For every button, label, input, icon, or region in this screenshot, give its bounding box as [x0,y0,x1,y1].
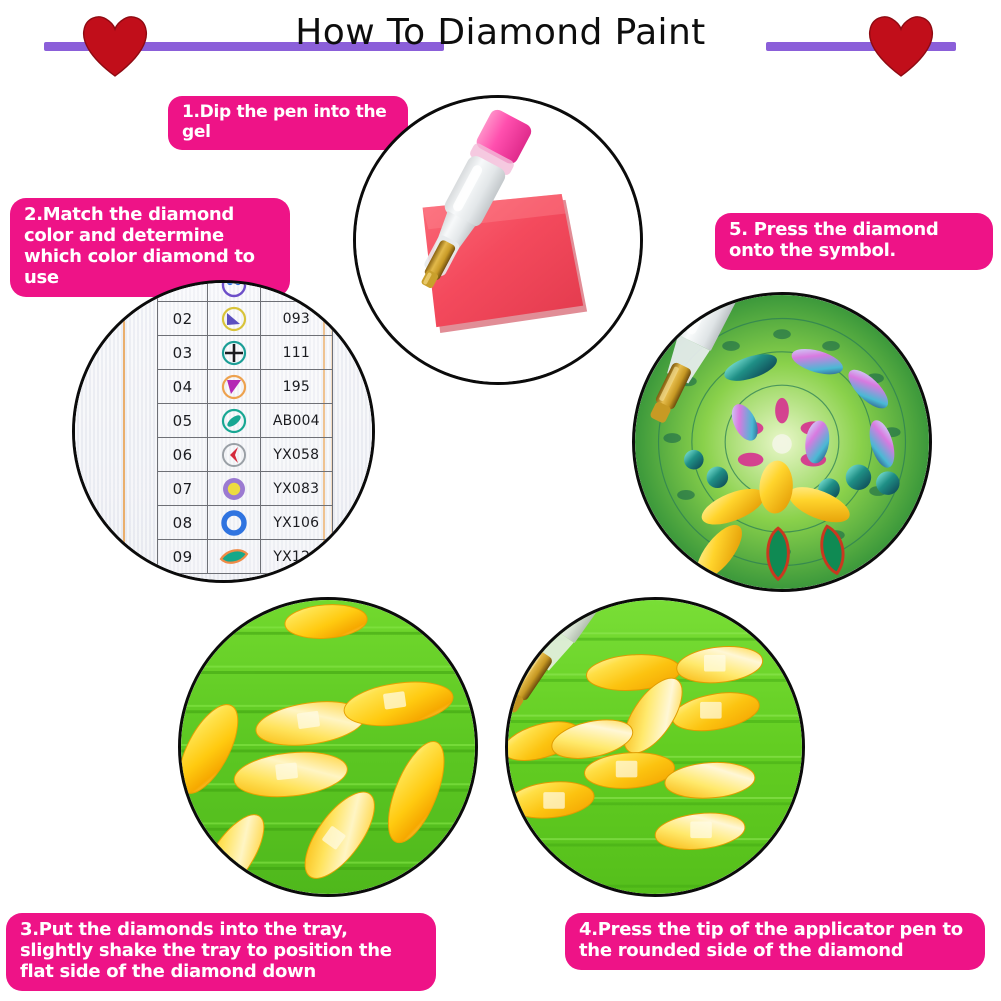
table-row: 05 AB004 [158,404,333,438]
double-dot-circle-icon [208,283,260,302]
legend-number: 04 [158,370,208,404]
legend-number: 05 [158,404,208,438]
table-row: 028 [158,283,333,302]
legend-code: AB004 [260,404,332,438]
legend-number: 02 [158,302,208,336]
photo-placing-diamond [632,292,932,592]
photo-color-chart: 028 02 093 03 [72,280,375,583]
blue-ring-circle-icon [208,506,260,540]
step-1-label: 1.Dip the pen into the gel [168,96,408,150]
legend-code: 028 [260,283,332,302]
photo-pen-picking-diamond [505,597,805,897]
legend-number: 08 [158,506,208,540]
photo-diamonds-in-tray [178,597,478,897]
legend-code: YX083 [260,472,332,506]
infographic-canvas: How To Diamond Paint 1.Dip the pen into … [0,0,1001,1001]
magenta-triangle-circle-icon [208,370,260,404]
legend-code: 093 [260,302,332,336]
chart-margin-rule [123,283,125,580]
legend-code: 195 [260,370,332,404]
chart-background: 028 02 093 03 [75,283,372,580]
step-3-label: 3.Put the diamonds into the tray, slight… [6,913,436,991]
left-arrow-circle-icon [208,438,260,472]
plus-circle-icon [208,336,260,370]
step-4-label: 4.Press the tip of the applicator pen to… [565,913,985,970]
legend-number: 09 [158,540,208,574]
table-row: 08 YX106 [158,506,333,540]
color-legend-table: 028 02 093 03 [157,283,333,574]
yellow-dot-circle-icon [208,472,260,506]
legend-number [158,283,208,302]
legend-number: 06 [158,438,208,472]
legend-number: 03 [158,336,208,370]
table-row: 03 111 [158,336,333,370]
legend-code: 111 [260,336,332,370]
legend-code: YX058 [260,438,332,472]
step-5-label: 5. Press the diamond onto the symbol. [715,213,993,270]
legend-code: YX106 [260,506,332,540]
table-row: 04 195 [158,370,333,404]
legend-number: 07 [158,472,208,506]
table-row: 06 YX058 [158,438,333,472]
table-row: 09 YX125 [158,540,333,574]
page-title: How To Diamond Paint [0,12,1001,53]
table-row: 02 093 [158,302,333,336]
teal-leaf-icon [208,540,260,574]
photo-pen-dipping-gel [353,95,643,385]
slash-oval-circle-icon [208,404,260,438]
table-row: 07 YX083 [158,472,333,506]
filled-triangle-circle-icon [208,302,260,336]
legend-code: YX125 [260,540,332,574]
